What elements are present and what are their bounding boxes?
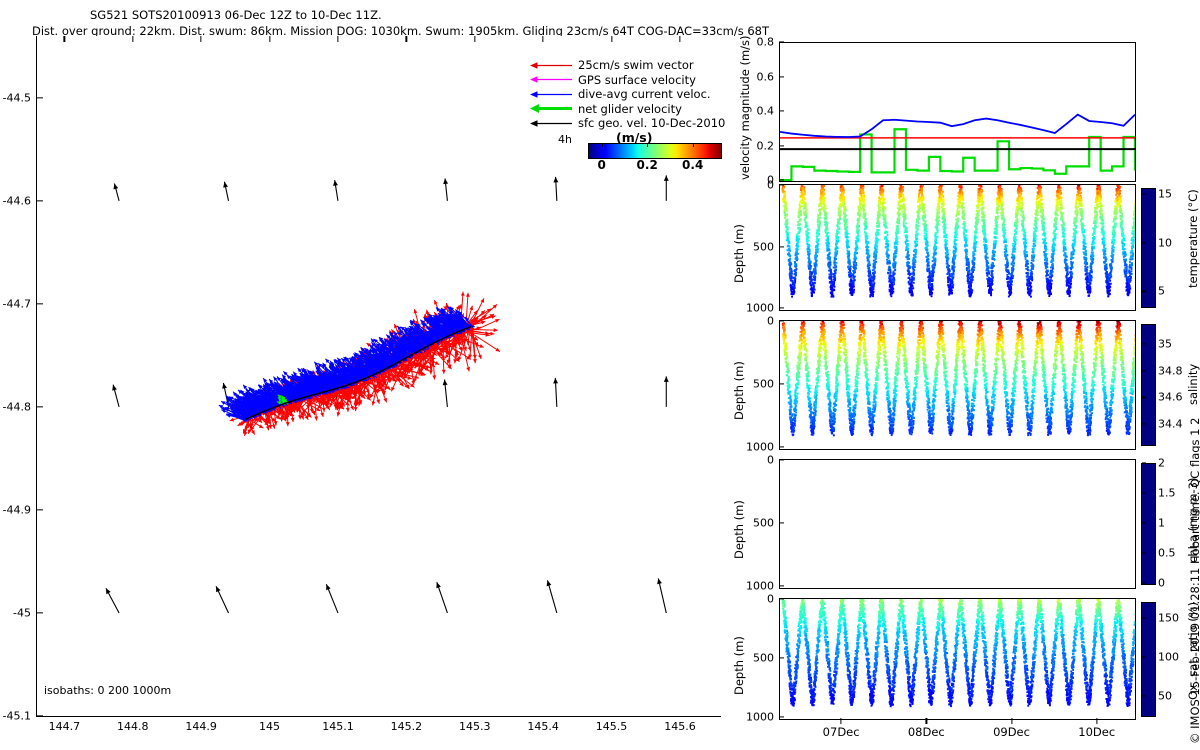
colorbar-tickmark bbox=[1142, 423, 1146, 424]
colorbar-tick-label: 5 bbox=[1158, 285, 1165, 298]
depth-tick-label: 0 bbox=[767, 454, 774, 467]
chlorophyll-section-chart bbox=[780, 460, 1135, 588]
colorbar-tick-label: 34.6 bbox=[1158, 391, 1183, 404]
map-y-tick-label: -44.8 bbox=[3, 400, 31, 413]
colorbar-tick-label: 1 bbox=[1158, 517, 1165, 530]
depth-tick-label: 0 bbox=[767, 593, 774, 606]
time-tick-label: 09Dec bbox=[993, 725, 1030, 739]
velocity-y-tick-label: 0.2 bbox=[757, 139, 775, 152]
depth-tickmark bbox=[779, 522, 784, 523]
salinity-panel[interactable] bbox=[779, 320, 1136, 450]
map-x-tick-label: 145 bbox=[259, 720, 280, 733]
velocity-y-tickmark bbox=[779, 76, 784, 77]
colorbar-tickmark bbox=[1142, 370, 1146, 371]
velocity-y-tickmark bbox=[779, 110, 784, 111]
map-y-tick-label: -45.1 bbox=[3, 710, 31, 723]
time-tickmark bbox=[1011, 718, 1012, 724]
time-axis: 07Dec08Dec09Dec10Dec bbox=[779, 718, 1134, 744]
colorbar-tick-label: 35 bbox=[1158, 338, 1172, 351]
colorbar-tickmark bbox=[1142, 397, 1146, 398]
depth-tickmark bbox=[779, 383, 784, 384]
legend-item-swim-vector: 25cm/s swim vector bbox=[528, 58, 740, 73]
velocity-y-tick-label: 0.8 bbox=[757, 36, 775, 49]
colorbar-tickmark bbox=[1142, 695, 1146, 696]
depth-tick-label: 1000 bbox=[746, 441, 774, 454]
velocity-y-tick-label: 0.4 bbox=[757, 105, 775, 118]
salinity-depth-ylabel: Depth (m) bbox=[732, 361, 746, 420]
colorbar-tick-label: 100 bbox=[1158, 650, 1179, 663]
depth-tickmark bbox=[779, 184, 784, 185]
page-title-line1: SG521 SOTS20100913 06-Dec 12Z to 10-Dec … bbox=[90, 8, 382, 22]
depth-tickmark bbox=[779, 446, 784, 447]
temperature-section-chart bbox=[780, 185, 1135, 310]
salinity-colorbar bbox=[1141, 324, 1156, 446]
colorbar-tick-label: 10 bbox=[1158, 236, 1172, 249]
map-x-tick-label: 144.8 bbox=[117, 720, 149, 733]
time-tick-label: 10Dec bbox=[1078, 725, 1115, 739]
colorbar-tick-label: 150 bbox=[1158, 611, 1179, 624]
velocity-y-tick-label: 0.6 bbox=[757, 70, 775, 83]
time-tickmark bbox=[1096, 718, 1097, 724]
time-tick-label: 08Dec bbox=[908, 725, 945, 739]
colorbar-tick-label: 34.8 bbox=[1158, 364, 1183, 377]
depth-tick-label: 0 bbox=[767, 179, 774, 192]
legend-label: GPS surface velocity bbox=[578, 73, 696, 87]
colorbar-tick-label: 34.4 bbox=[1158, 418, 1183, 431]
legend-label: net glider velocity bbox=[578, 102, 682, 116]
colorbar-tick-label: 50 bbox=[1158, 689, 1172, 702]
velocity-y-tickmark bbox=[779, 179, 784, 180]
depth-tick-label: 500 bbox=[753, 240, 774, 253]
colorbar-tick-label: 2 bbox=[1158, 457, 1165, 470]
map-colorbar-tick bbox=[647, 143, 648, 147]
map-x-tick-label: 145.1 bbox=[322, 720, 354, 733]
isobaths-label: isobaths: 0 200 1000m bbox=[44, 684, 171, 697]
temperature-panel[interactable] bbox=[779, 184, 1136, 311]
map-colorbar-tick bbox=[693, 143, 694, 147]
oxygen-section-chart bbox=[780, 599, 1135, 719]
depth-tick-label: 500 bbox=[753, 517, 774, 530]
legend-label: sfc geo. vel. 10-Dec-2010 bbox=[578, 116, 725, 130]
map-y-tick-label: -44.7 bbox=[3, 297, 31, 310]
depth-tick-label: 0 bbox=[767, 315, 774, 328]
depth-tick-label: 1000 bbox=[746, 580, 774, 593]
map-y-tick-label: -44.5 bbox=[3, 91, 31, 104]
colorbar-tickmark bbox=[1142, 193, 1146, 194]
map-colorbar-tick-label: 0.4 bbox=[682, 158, 703, 172]
colorbar-tick-label: 0.5 bbox=[1158, 547, 1176, 560]
velocity-y-tickmark bbox=[779, 41, 784, 42]
time-tickmark bbox=[841, 718, 842, 724]
chlorophyll-colorbar bbox=[1141, 463, 1156, 585]
depth-tickmark bbox=[779, 657, 784, 658]
depth-tickmark bbox=[779, 246, 784, 247]
colorbar-tickmark bbox=[1142, 582, 1146, 583]
depth-tick-label: 500 bbox=[753, 652, 774, 665]
depth-tickmark bbox=[779, 585, 784, 586]
map-y-tick-label: -44.9 bbox=[3, 503, 31, 516]
legend-item-net-glider-velocity: net glider velocity bbox=[528, 102, 740, 117]
dive-avg-current-arrow-icon bbox=[528, 88, 574, 101]
temperature-depth-ylabel: Depth (m) bbox=[732, 224, 746, 283]
velocity-magnitude-panel[interactable] bbox=[779, 42, 1136, 182]
colorbar-tickmark bbox=[1142, 522, 1146, 523]
time-tickmark bbox=[926, 718, 927, 724]
oxygen-colorbar bbox=[1141, 602, 1156, 717]
chlorophyll-panel[interactable] bbox=[779, 459, 1136, 589]
colorbar-tickmark bbox=[1142, 552, 1146, 553]
net-glider-velocity-arrow-icon bbox=[528, 102, 574, 115]
sfc-geo-vel-arrow-icon bbox=[528, 117, 574, 130]
velocity-y-tickmark bbox=[779, 145, 784, 146]
map-x-tick-label: 144.7 bbox=[49, 720, 81, 733]
colorbar-tick-label: 1.5 bbox=[1158, 487, 1176, 500]
depth-tickmark bbox=[779, 459, 784, 460]
depth-tick-label: 1000 bbox=[746, 302, 774, 315]
map-x-tick-label: 144.9 bbox=[185, 720, 217, 733]
colorbar-tick-label: 15 bbox=[1158, 187, 1172, 200]
map-x-tick-label: 145.4 bbox=[527, 720, 559, 733]
map-x-tick-label: 145.3 bbox=[459, 720, 491, 733]
legend-label: dive-avg current veloc. bbox=[578, 87, 711, 101]
depth-tick-label: 1000 bbox=[746, 711, 774, 724]
map-x-tick-label: 145.5 bbox=[596, 720, 628, 733]
depth-tick-label: 500 bbox=[753, 378, 774, 391]
velocity-magnitude-ylabel: velocity magnitude (m/s) bbox=[738, 35, 752, 180]
temperature-colorbar-label: temperature (°C) bbox=[1186, 189, 1200, 288]
colorbar-tickmark bbox=[1142, 291, 1146, 292]
map-x-tick-label: 145.6 bbox=[664, 720, 696, 733]
map-colorbar-tick-label: 0 bbox=[597, 158, 605, 172]
legend-item-dive-avg-current: dive-avg current veloc. bbox=[528, 87, 740, 102]
depth-tickmark bbox=[779, 320, 784, 321]
map-x-tick-label: 145.2 bbox=[391, 720, 423, 733]
oxygen-depth-ylabel: Depth (m) bbox=[732, 636, 746, 695]
timescale-label: 4h bbox=[558, 133, 572, 146]
colorbar-tickmark bbox=[1142, 656, 1146, 657]
salinity-colorbar-label: salinity bbox=[1186, 364, 1200, 405]
map-colorbar bbox=[588, 143, 722, 159]
legend-item-sfc-geo-vel: sfc geo. vel. 10-Dec-2010 bbox=[528, 116, 740, 131]
imos-credit: © IMOS 15-Feb-2019 01:28:11 Hobart time.… bbox=[1188, 418, 1200, 744]
legend-item-gps-surface-velocity: GPS surface velocity bbox=[528, 73, 740, 88]
map-colorbar-tick-label: 0.2 bbox=[637, 158, 658, 172]
depth-tickmark bbox=[779, 307, 784, 308]
velocity-magnitude-chart bbox=[780, 43, 1135, 181]
salinity-section-chart bbox=[780, 321, 1135, 449]
colorbar-tick-label: 0 bbox=[1158, 577, 1165, 590]
chlorophyll-depth-ylabel: Depth (m) bbox=[732, 500, 746, 559]
map-legend: 25cm/s swim vectorGPS surface velocitydi… bbox=[528, 58, 740, 131]
map-colorbar-tick bbox=[602, 143, 603, 147]
colorbar-tickmark bbox=[1142, 617, 1146, 618]
colorbar-tickmark bbox=[1142, 242, 1146, 243]
map-y-tick-label: -45 bbox=[13, 606, 31, 619]
oxygen-panel[interactable] bbox=[779, 598, 1136, 720]
colorbar-tickmark bbox=[1142, 492, 1146, 493]
time-tick-label: 07Dec bbox=[823, 725, 860, 739]
map-y-tick-label: -44.6 bbox=[3, 194, 31, 207]
swim-vector-arrow-icon bbox=[528, 59, 574, 72]
gps-surface-velocity-arrow-icon bbox=[528, 73, 574, 86]
colorbar-tickmark bbox=[1142, 343, 1146, 344]
legend-label: 25cm/s swim vector bbox=[578, 58, 694, 72]
colorbar-tickmark bbox=[1142, 462, 1146, 463]
depth-tickmark bbox=[779, 598, 784, 599]
